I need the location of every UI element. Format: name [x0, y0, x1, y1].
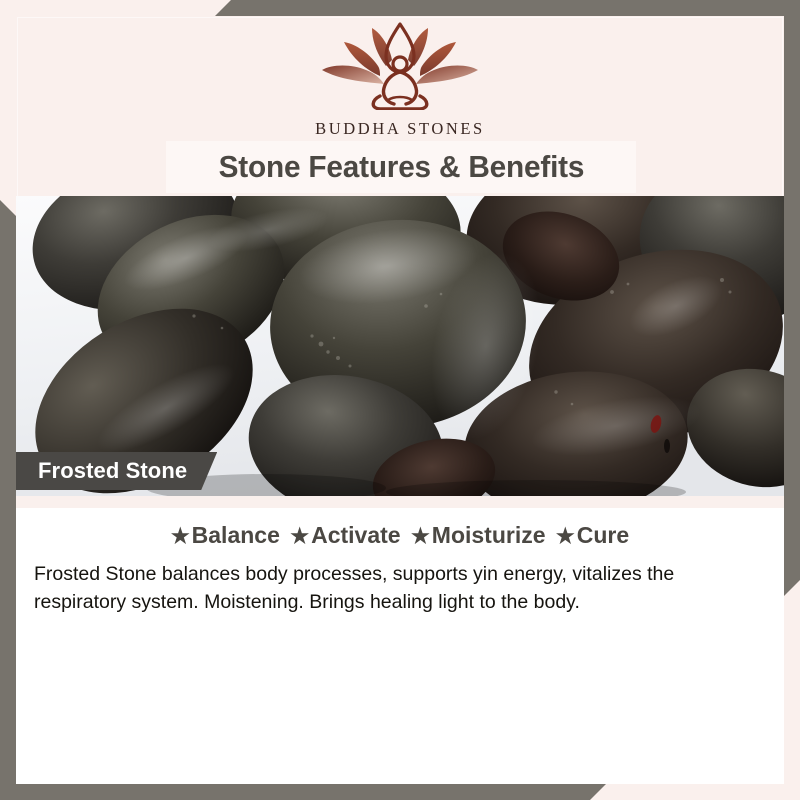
benefit-item: ★Moisturize — [411, 522, 546, 549]
lotus-meditation-icon — [0, 22, 800, 115]
page-title: Stone Features & Benefits — [218, 149, 584, 185]
brand-logo: BUDDHA STONES — [0, 22, 800, 139]
star-icon: ★ — [290, 525, 309, 548]
content-top-strip — [16, 496, 784, 508]
benefit-item: ★Cure — [556, 522, 629, 549]
stone-name-text: Frosted Stone — [38, 458, 187, 484]
benefit-label: Moisturize — [432, 522, 546, 548]
frame-band-right — [784, 0, 800, 596]
benefit-label: Activate — [311, 522, 400, 548]
benefits-list: ★Balance ★Activate ★Moisturize ★Cure — [16, 522, 784, 549]
benefit-label: Balance — [192, 522, 280, 548]
frame-band-top — [215, 0, 800, 16]
title-banner: Stone Features & Benefits — [166, 141, 636, 193]
frame-band-bottom — [0, 784, 606, 800]
benefit-item: ★Balance — [171, 522, 280, 549]
benefit-item: ★Activate — [290, 522, 400, 549]
stone-info-card: BUDDHA STONES Stone Features & Benefits — [0, 0, 800, 800]
stone-description: Frosted Stone balances body processes, s… — [34, 561, 766, 616]
brand-name: BUDDHA STONES — [0, 119, 800, 139]
frosted-stone-photo — [16, 196, 784, 496]
star-icon: ★ — [411, 525, 430, 548]
benefit-label: Cure — [577, 522, 629, 548]
star-icon: ★ — [556, 525, 575, 548]
content-area: ★Balance ★Activate ★Moisturize ★Cure Fro… — [16, 508, 784, 784]
stone-name-label: Frosted Stone — [16, 452, 217, 490]
star-icon: ★ — [171, 525, 190, 548]
frame-band-left — [0, 200, 16, 800]
